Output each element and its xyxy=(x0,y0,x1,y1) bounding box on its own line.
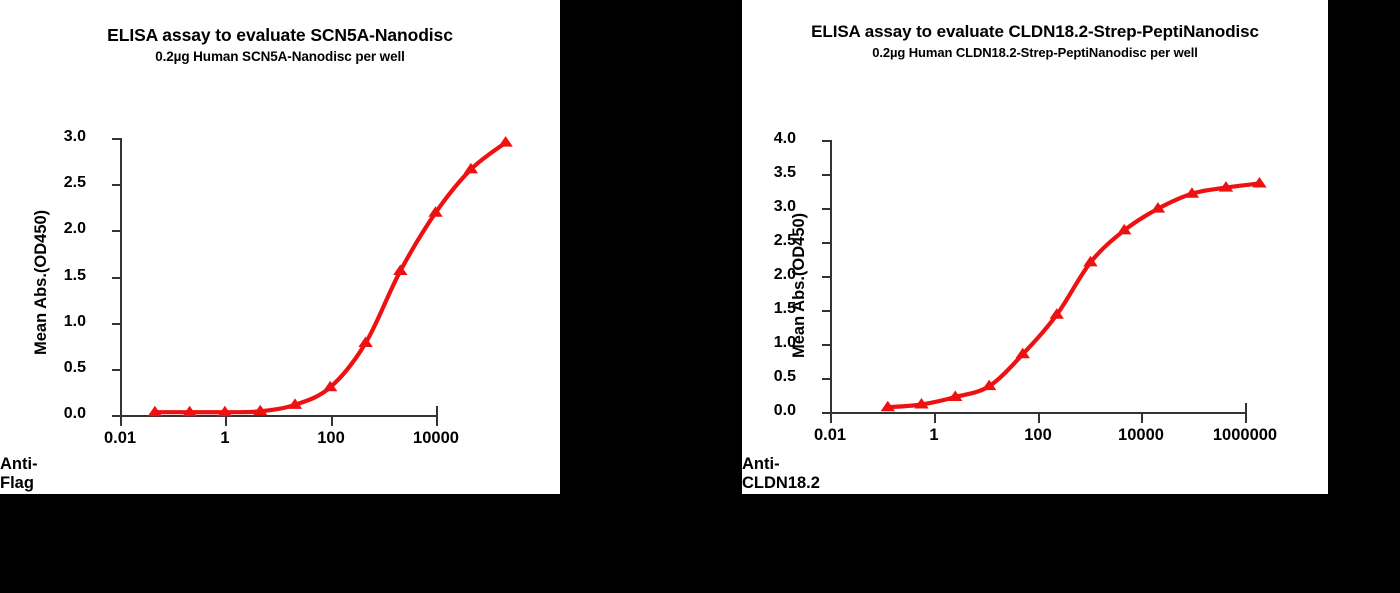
chart-panel-scn5a: ELISA assay to evaluate SCN5A-Nanodisc 0… xyxy=(0,0,560,494)
series-line xyxy=(155,143,506,413)
series-line xyxy=(888,184,1260,408)
series-scn5a xyxy=(0,0,560,494)
chart-panel-cldn18: ELISA assay to evaluate CLDN18.2-Strep-P… xyxy=(742,0,1328,494)
data-point-marker xyxy=(498,136,512,147)
series-cldn18 xyxy=(742,0,1328,494)
